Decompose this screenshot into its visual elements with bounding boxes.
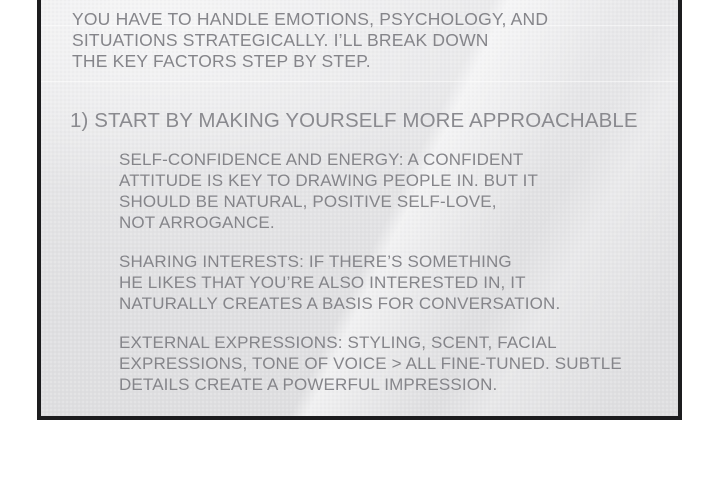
point-line: HE LIKES THAT YOU’RE ALSO INTERESTED IN,… xyxy=(119,274,526,291)
point-line: EXTERNAL EXPRESSIONS: STYLING, SCENT, FA… xyxy=(119,334,557,351)
screenshot-canvas: YOU HAVE TO HANDLE EMOTIONS, PSYCHOLOGY,… xyxy=(0,0,720,500)
point-line: SHARING INTERESTS: IF THERE’S SOMETHING xyxy=(119,253,512,270)
point-line: NOT ARROGANCE. xyxy=(119,214,275,231)
slide-frame: YOU HAVE TO HANDLE EMOTIONS, PSYCHOLOGY,… xyxy=(37,0,682,420)
section-heading: 1) START BY MAKING YOURSELF MORE APPROAC… xyxy=(70,111,638,132)
intro-line: SITUATIONS STRATEGICALLY. I’LL BREAK DOW… xyxy=(72,32,489,50)
point-line: NATURALLY CREATES A BASIS FOR CONVERSATI… xyxy=(119,295,560,312)
point-line: ATTITUDE IS KEY TO DRAWING PEOPLE IN. BU… xyxy=(119,172,538,189)
slide-surface: YOU HAVE TO HANDLE EMOTIONS, PSYCHOLOGY,… xyxy=(41,0,678,416)
point-line: DETAILS CREATE A POWERFUL IMPRESSION. xyxy=(119,376,497,393)
slide-content: YOU HAVE TO HANDLE EMOTIONS, PSYCHOLOGY,… xyxy=(41,0,678,416)
intro-line: YOU HAVE TO HANDLE EMOTIONS, PSYCHOLOGY,… xyxy=(72,11,548,29)
point-line: EXPRESSIONS, TONE OF VOICE > ALL FINE-TU… xyxy=(119,355,622,372)
intro-line: THE KEY FACTORS STEP BY STEP. xyxy=(72,53,371,71)
point-line: SELF-CONFIDENCE AND ENERGY: A CONFIDENT xyxy=(119,151,523,168)
point-line: SHOULD BE NATURAL, POSITIVE SELF-LOVE, xyxy=(119,193,497,210)
